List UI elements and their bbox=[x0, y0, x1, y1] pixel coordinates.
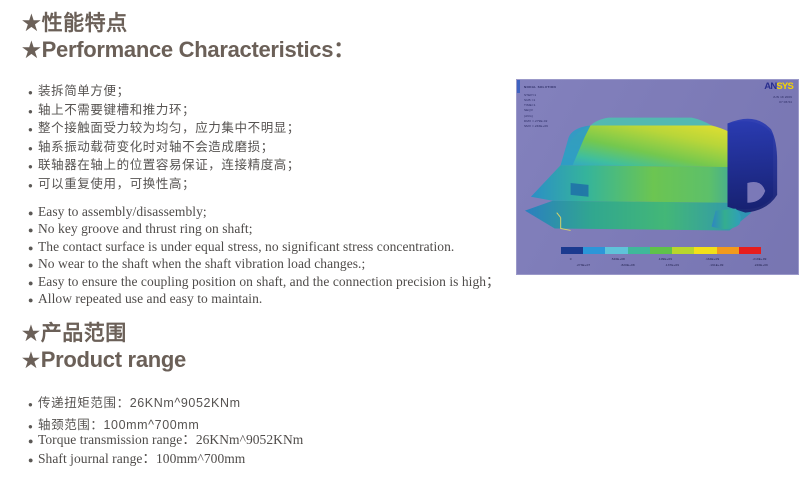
fea-scale-label: .191E+09 bbox=[694, 263, 738, 267]
fea-model-geometry bbox=[517, 80, 798, 274]
bullet-dot-icon: ● bbox=[28, 182, 38, 190]
bullet-dot-icon: ● bbox=[28, 145, 38, 153]
list-item: ● Easy to ensure the coupling position o… bbox=[28, 273, 500, 290]
list-item: ● Easy to assembly/disassembly; bbox=[28, 203, 500, 220]
fea-scale-band bbox=[605, 247, 627, 254]
product-range-heading-en: ★ Product range bbox=[22, 347, 186, 373]
performance-list-cn: ● 装拆简单方便； ● 轴上不需要键槽和推力环； ● 整个接触面受力较为均匀，应… bbox=[28, 82, 300, 194]
list-item: ● 可以重复使用，可换性高； bbox=[28, 175, 300, 194]
list-item-label: 传递扭矩范围：26KNm^9052KNm bbox=[38, 392, 241, 414]
list-item: ● The contact surface is under equal str… bbox=[28, 238, 500, 255]
performance-heading-en-text: Performance Characteristics： bbox=[42, 37, 355, 63]
bullet-dot-icon: ● bbox=[28, 261, 38, 270]
performance-heading-block: ★ 性能特点 ★ Performance Characteristics： bbox=[22, 12, 355, 63]
list-item-label: 轴系振动载荷变化时对轴不会造成磨损； bbox=[38, 138, 274, 157]
fea-scale-band bbox=[561, 247, 583, 254]
fea-scale-labels-upper: 0 .546E+08 .109E+09 .164E+09 .218E+09 bbox=[547, 257, 783, 261]
fea-scale-band bbox=[650, 247, 672, 254]
fea-canvas: ANSYS NODAL SOLUTION STEP=1 SUB =1 TIME=… bbox=[517, 80, 798, 274]
list-item: ● 轴系振动载荷变化时对轴不会造成磨损； bbox=[28, 138, 300, 157]
list-item: ● 联轴器在轴上的位置容易保证，连接精度高； bbox=[28, 156, 300, 175]
list-item-label: 轴上不需要键槽和推力环； bbox=[38, 101, 195, 120]
fea-scale-label: 0 bbox=[547, 257, 594, 261]
list-item-label: 装拆简单方便； bbox=[38, 82, 130, 101]
fea-scale-label: .273E+07 bbox=[561, 263, 605, 267]
star-icon: ★ bbox=[22, 351, 40, 371]
fea-color-scale bbox=[561, 247, 761, 254]
performance-heading-cn-text: 性能特点 bbox=[42, 12, 128, 37]
bullet-dot-icon: ● bbox=[28, 209, 38, 218]
bullet-dot-icon: ● bbox=[28, 89, 38, 97]
list-item-label: Shaft journal range：100mm^700mm bbox=[38, 449, 245, 468]
fea-front-body bbox=[531, 165, 753, 203]
bullet-dot-icon: ● bbox=[28, 456, 38, 465]
list-item: ● No key groove and thrust ring on shaft… bbox=[28, 220, 500, 237]
ansys-fea-figure: ANSYS NODAL SOLUTION STEP=1 SUB =1 TIME=… bbox=[516, 79, 799, 275]
fea-scale-label: .137E+09 bbox=[650, 263, 694, 267]
performance-heading-cn: ★ 性能特点 bbox=[22, 12, 355, 37]
list-item: ● 装拆简单方便； bbox=[28, 82, 300, 101]
list-item-label: Allow repeated use and easy to maintain. bbox=[38, 290, 262, 307]
star-icon: ★ bbox=[22, 40, 41, 61]
fea-scale-label: .218E+09 bbox=[736, 257, 783, 261]
star-icon: ★ bbox=[22, 13, 41, 34]
fea-scale-band bbox=[694, 247, 716, 254]
fea-scale-label: .109E+09 bbox=[641, 257, 688, 261]
performance-heading-en: ★ Performance Characteristics： bbox=[22, 37, 355, 63]
star-icon: ★ bbox=[22, 324, 40, 344]
bullet-dot-icon: ● bbox=[28, 126, 38, 134]
product-range-heading-block: ★ 产品范围 ★ Product range bbox=[22, 322, 186, 373]
list-item: ● Shaft journal range：100mm^700mm bbox=[28, 449, 303, 468]
fea-scale-band bbox=[583, 247, 605, 254]
bullet-dot-icon: ● bbox=[28, 108, 38, 116]
list-item-label: 可以重复使用，可换性高； bbox=[38, 175, 195, 194]
product-range-heading-cn: ★ 产品范围 bbox=[22, 322, 186, 347]
fea-scale-band bbox=[739, 247, 761, 254]
list-item: ● 传递扭矩范围：26KNm^9052KNm bbox=[28, 392, 241, 414]
fea-scale-label: .820E+08 bbox=[605, 263, 649, 267]
bullet-dot-icon: ● bbox=[28, 163, 38, 171]
list-item-label: No key groove and thrust ring on shaft; bbox=[38, 220, 253, 237]
fea-scale-labels-lower: .273E+07 .820E+08 .137E+09 .191E+09 .246… bbox=[561, 263, 783, 267]
fea-top-surface bbox=[561, 126, 752, 168]
performance-list-en: ● Easy to assembly/disassembly; ● No key… bbox=[28, 203, 500, 307]
bullet-dot-icon: ● bbox=[28, 296, 38, 305]
product-range-heading-cn-text: 产品范围 bbox=[41, 322, 127, 347]
fea-scale-label: .164E+09 bbox=[689, 257, 736, 261]
bullet-dot-icon: ● bbox=[28, 244, 38, 253]
bullet-dot-icon: ● bbox=[28, 437, 38, 446]
list-item: ● Torque transmission range：26KNm^9052KN… bbox=[28, 430, 303, 449]
list-item-label: 整个接触面受力较为均匀，应力集中不明显； bbox=[38, 119, 300, 138]
list-item: ● No wear to the shaft when the shaft vi… bbox=[28, 255, 500, 272]
fea-scale-band bbox=[717, 247, 739, 254]
list-item: ● 轴上不需要键槽和推力环； bbox=[28, 101, 300, 120]
list-item-label: No wear to the shaft when the shaft vibr… bbox=[38, 255, 365, 272]
fea-scale-label: .546E+08 bbox=[594, 257, 641, 261]
fea-notch bbox=[571, 183, 589, 197]
list-item: ● Allow repeated use and easy to maintai… bbox=[28, 290, 500, 307]
product-range-heading-en-text: Product range bbox=[41, 347, 186, 373]
list-item-label: Easy to assembly/disassembly; bbox=[38, 203, 207, 220]
bullet-dot-icon: ● bbox=[28, 401, 38, 409]
fea-top-ridge bbox=[590, 118, 711, 126]
list-item: ● 整个接触面受力较为均匀，应力集中不明显； bbox=[28, 119, 300, 138]
fea-scale-label: .246E+09 bbox=[739, 263, 783, 267]
fea-scale-band bbox=[628, 247, 650, 254]
fea-scale-band bbox=[672, 247, 694, 254]
list-item-label: The contact surface is under equal stres… bbox=[38, 238, 454, 255]
bullet-dot-icon: ● bbox=[28, 226, 38, 235]
list-item-label: Easy to ensure the coupling position on … bbox=[38, 273, 500, 290]
list-item-label: 联轴器在轴上的位置容易保证，连接精度高； bbox=[38, 156, 300, 175]
product-range-list-en: ● Torque transmission range：26KNm^9052KN… bbox=[28, 430, 303, 468]
bullet-dot-icon: ● bbox=[28, 279, 38, 288]
list-item-label: Torque transmission range：26KNm^9052KNm bbox=[38, 430, 303, 449]
fea-lower-lip bbox=[712, 209, 741, 229]
